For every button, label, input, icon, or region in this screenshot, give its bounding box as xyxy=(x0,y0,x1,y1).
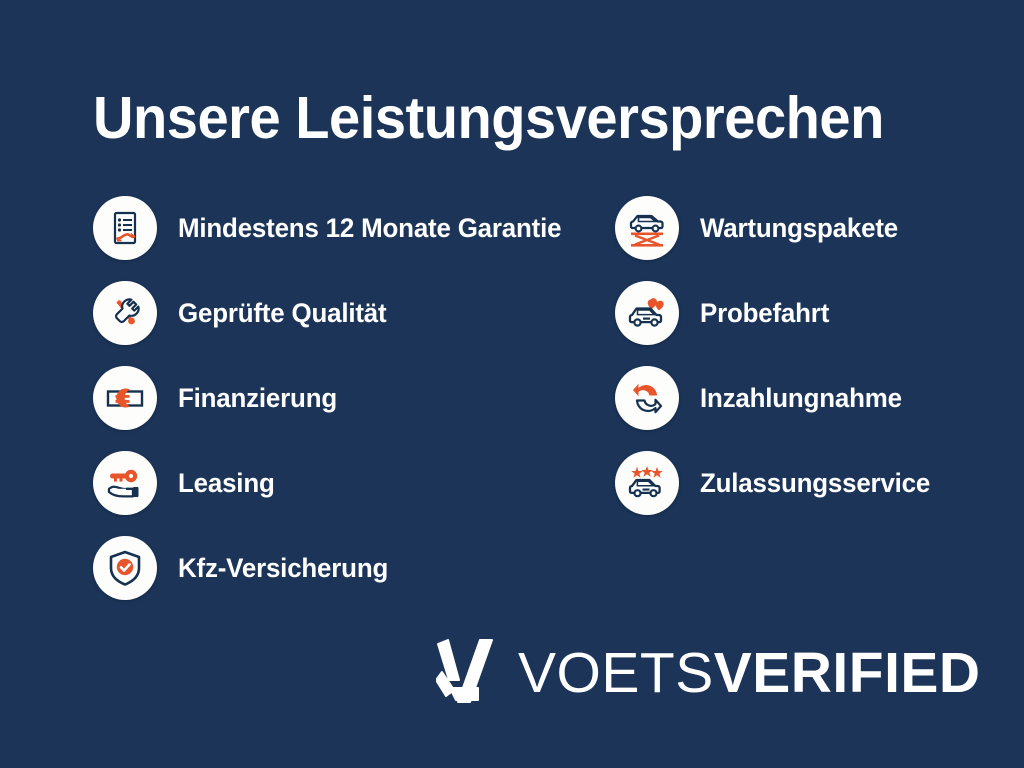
voets-check-mark-icon xyxy=(436,632,498,714)
feature-label: Inzahlungnahme xyxy=(700,383,902,414)
car-heart-icon xyxy=(615,281,679,345)
feature-item-zulassungsservice: Zulassungsservice xyxy=(615,451,1015,515)
feature-item-wartungspakete: Wartungspakete xyxy=(615,196,1015,260)
feature-item-garantie: Mindestens 12 Monate Garantie xyxy=(93,196,563,260)
shield-check-icon xyxy=(93,536,157,600)
feature-label: Probefahrt xyxy=(700,298,829,329)
feature-label: Geprüfte Qualität xyxy=(178,298,386,329)
hand-key-icon xyxy=(93,451,157,515)
feature-column-right: Wartungspakete Probefahrt xyxy=(615,196,1015,600)
brand-logo: VOETSVERIFIED xyxy=(436,632,981,714)
wrench-screwdriver-icon xyxy=(93,281,157,345)
exchange-arrows-icon xyxy=(615,366,679,430)
feature-column-left: Mindestens 12 Monate Garantie Geprüfte Q… xyxy=(93,196,563,600)
feature-item-finanzierung: Finanzierung xyxy=(93,366,563,430)
feature-columns: Mindestens 12 Monate Garantie Geprüfte Q… xyxy=(0,196,1024,600)
feature-item-leasing: Leasing xyxy=(93,451,563,515)
feature-item-versicherung: Kfz-Versicherung xyxy=(93,536,563,600)
brand-wordmark: VOETSVERIFIED xyxy=(518,644,981,702)
feature-label: Wartungspakete xyxy=(700,213,898,244)
car-stars-icon xyxy=(615,451,679,515)
document-signature-icon xyxy=(93,196,157,260)
brand-word-verified: VERIFIED xyxy=(714,644,981,702)
brand-word-voets: VOETS xyxy=(518,644,714,702)
feature-item-inzahlungnahme: Inzahlungnahme xyxy=(615,366,1015,430)
feature-label: Leasing xyxy=(178,468,275,499)
promo-graphic: Unsere Leistungsversprechen xyxy=(0,0,1024,768)
page-title: Unsere Leistungsversprechen xyxy=(93,86,884,150)
car-lift-icon xyxy=(615,196,679,260)
euro-banknote-icon xyxy=(93,366,157,430)
feature-label: Mindestens 12 Monate Garantie xyxy=(178,213,561,244)
feature-label: Zulassungsservice xyxy=(700,468,930,499)
feature-label: Kfz-Versicherung xyxy=(178,553,388,584)
feature-item-probefahrt: Probefahrt xyxy=(615,281,1015,345)
feature-item-qualitaet: Geprüfte Qualität xyxy=(93,281,563,345)
feature-label: Finanzierung xyxy=(178,383,337,414)
